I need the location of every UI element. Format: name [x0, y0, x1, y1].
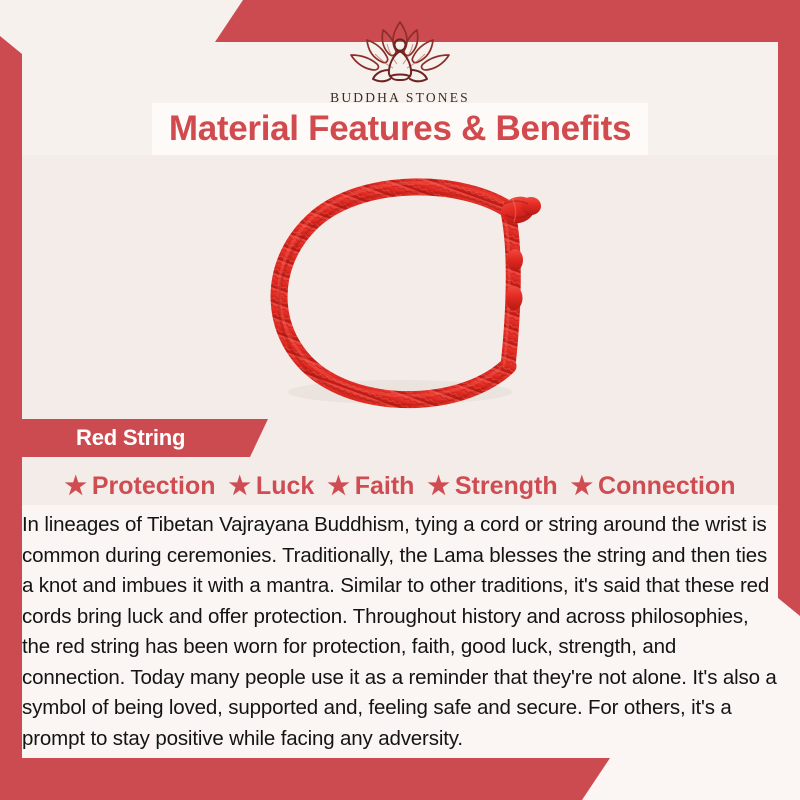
benefit-label: Faith — [355, 472, 415, 501]
benefit-item: ★ Faith — [327, 472, 414, 501]
benefit-label: Strength — [455, 472, 558, 501]
benefit-label: Connection — [598, 472, 736, 501]
benefit-item: ★ Connection — [571, 472, 736, 501]
star-icon: ★ — [427, 474, 449, 499]
star-icon: ★ — [64, 474, 86, 499]
star-icon: ★ — [229, 474, 251, 499]
benefit-label: Luck — [256, 472, 314, 501]
benefit-item: ★ Luck — [229, 472, 315, 501]
benefit-item: ★ Protection — [64, 472, 215, 501]
star-icon: ★ — [327, 474, 349, 499]
decorative-bar-right — [778, 36, 800, 616]
decorative-bar-left — [0, 36, 22, 766]
product-image — [250, 160, 580, 420]
decorative-band-bottom — [0, 758, 610, 800]
lotus-meditation-icon — [327, 14, 473, 88]
star-icon: ★ — [571, 474, 593, 499]
knot — [498, 193, 541, 310]
benefits-list: ★ Protection ★ Luck ★ Faith ★ Strength ★… — [22, 466, 778, 506]
page-title: Material Features & Benefits — [152, 103, 648, 155]
brand-logo: BUDDHA STONES — [0, 14, 800, 106]
benefit-item: ★ Strength — [427, 472, 557, 501]
infographic-page: BUDDHA STONES Material Features & Benefi… — [0, 0, 800, 800]
section-label: Red String — [18, 419, 268, 457]
description-text: In lineages of Tibetan Vajrayana Buddhis… — [22, 510, 778, 754]
benefit-label: Protection — [92, 472, 216, 501]
